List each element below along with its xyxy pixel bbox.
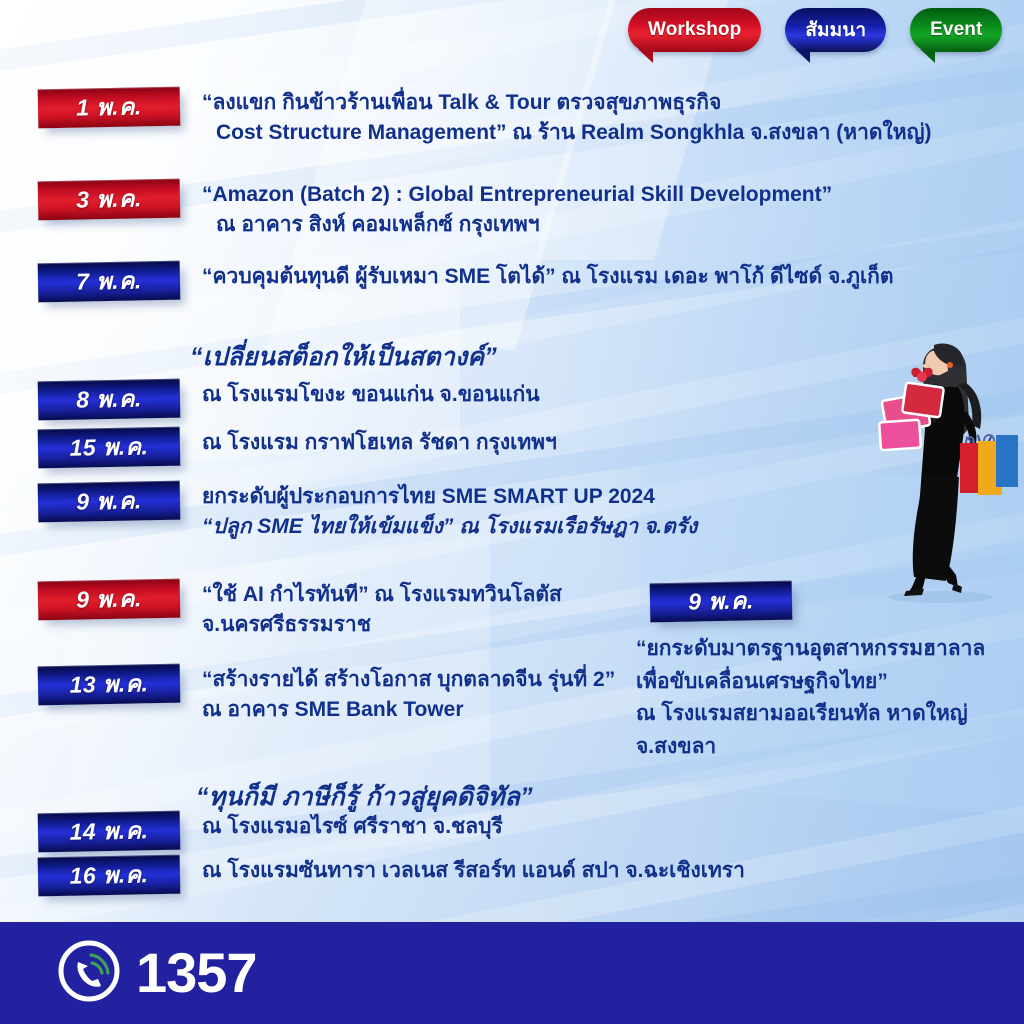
event-text-2: “Amazon (Batch 2) : Global Entrepreneuri… bbox=[202, 180, 832, 240]
event-date-chip-8[interactable]: 13 พ.ค. bbox=[38, 664, 181, 706]
event-list: 1 พ.ค. “ลงแขก กินข้าวร้านเพื่อน Talk & T… bbox=[0, 0, 1024, 1024]
legend-badge-workshop[interactable]: Workshop bbox=[628, 8, 761, 52]
event-line: ณ โรงแรม กราฟโฮเทล รัชดา กรุงเทพฯ bbox=[202, 428, 557, 458]
phone-number: 1357 bbox=[136, 945, 257, 1001]
footer-bar: 1357 bbox=[0, 922, 1024, 1024]
side-event-line: “ยกระดับมาตรฐานอุตสาหกรรมฮาลาล bbox=[636, 633, 1016, 666]
group-heading-tax-digital: “ทุนก็มี ภาษีก็รู้ ก้าวสู่ยุคดิจิทัล” bbox=[196, 777, 533, 817]
legend-badge-event[interactable]: Event bbox=[910, 8, 1002, 52]
event-row-9: 14 พ.ค. ณ โรงแรมอไรซ์ ศรีราชา จ.ชลบุรี bbox=[38, 812, 503, 851]
side-event-line: ณ โรงแรมสยามออเรียนทัล หาดใหญ่ bbox=[636, 698, 1016, 731]
event-date-3: 7 พ.ค. bbox=[76, 263, 142, 300]
event-text-8: “สร้างรายได้ สร้างโอกาส บุกตลาดจีน รุ่นท… bbox=[202, 665, 615, 725]
event-text-5: ณ โรงแรม กราฟโฮเทล รัชดา กรุงเทพฯ bbox=[202, 428, 557, 458]
event-line: จ.นครศรีธรรมราช bbox=[202, 610, 562, 640]
group-heading-stock-to-cash: “เปลี่ยนสต็อกให้เป็นสตางค์” bbox=[190, 337, 497, 377]
side-event-date: 9 พ.ค. bbox=[688, 583, 754, 620]
event-text-4: ณ โรงแรมโขงะ ขอนแก่น จ.ขอนแก่น bbox=[202, 380, 540, 410]
event-date-chip-6[interactable]: 9 พ.ค. bbox=[38, 481, 181, 523]
event-date-chip-4[interactable]: 8 พ.ค. bbox=[38, 379, 181, 421]
side-event-text: “ยกระดับมาตรฐานอุตสาหกรรมฮาลาล เพื่อขับเ… bbox=[636, 633, 1016, 763]
event-date-chip-2[interactable]: 3 พ.ค. bbox=[38, 179, 181, 221]
event-text-9: ณ โรงแรมอไรซ์ ศรีราชา จ.ชลบุรี bbox=[202, 812, 503, 842]
event-date-8: 13 พ.ค. bbox=[69, 666, 149, 704]
event-date-2: 3 พ.ค. bbox=[76, 181, 142, 218]
event-line: “ควบคุมต้นทุนดี ผู้รับเหมา SME โตได้” ณ … bbox=[202, 262, 893, 292]
event-line: ณ โรงแรมอไรซ์ ศรีราชา จ.ชลบุรี bbox=[202, 812, 503, 842]
event-row-3: 7 พ.ค. “ควบคุมต้นทุนดี ผู้รับเหมา SME โต… bbox=[38, 262, 893, 301]
event-date-4: 8 พ.ค. bbox=[76, 381, 142, 418]
event-line: ณ โรงแรมโขงะ ขอนแก่น จ.ขอนแก่น bbox=[202, 380, 540, 410]
event-line: ณ โรงแรมซันทารา เวลเนส รีสอร์ท แอนด์ สปา… bbox=[202, 856, 745, 886]
event-line: “Amazon (Batch 2) : Global Entrepreneuri… bbox=[202, 180, 832, 210]
legend-label-seminar: สัมมนา bbox=[805, 15, 866, 45]
event-row-1: 1 พ.ค. “ลงแขก กินข้าวร้านเพื่อน Talk & T… bbox=[38, 88, 931, 148]
event-row-4: 8 พ.ค. ณ โรงแรมโขงะ ขอนแก่น จ.ขอนแก่น bbox=[38, 380, 540, 419]
event-line: “ลงแขก กินข้าวร้านเพื่อน Talk & Tour ตรว… bbox=[202, 88, 931, 118]
event-row-6: 9 พ.ค. ยกระดับผู้ประกอบการไทย SME SMART … bbox=[38, 482, 697, 542]
event-line: ยกระดับผู้ประกอบการไทย SME SMART UP 2024 bbox=[202, 482, 697, 512]
event-line: “ใช้ AI กำไรทันที” ณ โรงแรมทวินโลตัส bbox=[202, 580, 562, 610]
event-date-chip-10[interactable]: 16 พ.ค. bbox=[38, 855, 181, 897]
event-date-9: 14 พ.ค. bbox=[69, 813, 149, 851]
event-line: ณ อาคาร สิงห์ คอมเพล็กซ์ กรุงเทพฯ bbox=[202, 210, 832, 240]
legend: Workshop สัมมนา Event bbox=[628, 8, 1002, 52]
side-event-line: เพื่อขับเคลื่อนเศรษฐกิจไทย” bbox=[636, 666, 1016, 699]
event-text-1: “ลงแขก กินข้าวร้านเพื่อน Talk & Tour ตรว… bbox=[202, 88, 931, 148]
legend-badge-seminar[interactable]: สัมมนา bbox=[785, 8, 886, 52]
event-row-5: 15 พ.ค. ณ โรงแรม กราฟโฮเทล รัชดา กรุงเทพ… bbox=[38, 428, 557, 467]
legend-label-workshop: Workshop bbox=[648, 19, 741, 41]
event-line: “ปลูก SME ไทยให้เข้มแข็ง” ณ โรงแรมเรือรั… bbox=[202, 512, 697, 542]
event-calendar-poster: Workshop สัมมนา Event bbox=[0, 0, 1024, 1024]
event-date-chip-1[interactable]: 1 พ.ค. bbox=[38, 87, 181, 129]
event-date-chip-7[interactable]: 9 พ.ค. bbox=[38, 579, 181, 621]
event-date-chip-9[interactable]: 14 พ.ค. bbox=[38, 811, 181, 853]
contact-phone[interactable]: 1357 bbox=[56, 938, 257, 1009]
event-line: ณ อาคาร SME Bank Tower bbox=[202, 695, 615, 725]
event-date-7: 9 พ.ค. bbox=[76, 581, 142, 618]
event-row-8: 13 พ.ค. “สร้างรายได้ สร้างโอกาส บุกตลาดจ… bbox=[38, 665, 615, 725]
event-line: “สร้างรายได้ สร้างโอกาส บุกตลาดจีน รุ่นท… bbox=[202, 665, 615, 695]
event-date-6: 9 พ.ค. bbox=[76, 483, 142, 520]
event-text-7: “ใช้ AI กำไรทันที” ณ โรงแรมทวินโลตัส จ.น… bbox=[202, 580, 562, 640]
event-date-10: 16 พ.ค. bbox=[69, 857, 149, 895]
event-line: Cost Structure Management” ณ ร้าน Realm … bbox=[202, 118, 931, 148]
event-date-chip-3[interactable]: 7 พ.ค. bbox=[38, 261, 181, 303]
side-event-block: 9 พ.ค. “ยกระดับมาตรฐานอุตสาหกรรมฮาลาล เพ… bbox=[636, 582, 1016, 763]
event-date-5: 15 พ.ค. bbox=[69, 429, 149, 467]
legend-label-event: Event bbox=[930, 19, 982, 41]
phone-call-icon bbox=[56, 938, 122, 1009]
event-row-7: 9 พ.ค. “ใช้ AI กำไรทันที” ณ โรงแรมทวินโล… bbox=[38, 580, 562, 640]
event-date-1: 1 พ.ค. bbox=[76, 89, 142, 126]
side-event-line: จ.สงขลา bbox=[636, 731, 1016, 764]
event-text-3: “ควบคุมต้นทุนดี ผู้รับเหมา SME โตได้” ณ … bbox=[202, 262, 893, 292]
event-date-chip-5[interactable]: 15 พ.ค. bbox=[38, 427, 181, 469]
event-row-10: 16 พ.ค. ณ โรงแรมซันทารา เวลเนส รีสอร์ท แ… bbox=[38, 856, 745, 895]
event-text-10: ณ โรงแรมซันทารา เวลเนส รีสอร์ท แอนด์ สปา… bbox=[202, 856, 745, 886]
event-text-6: ยกระดับผู้ประกอบการไทย SME SMART UP 2024… bbox=[202, 482, 697, 542]
event-row-2: 3 พ.ค. “Amazon (Batch 2) : Global Entrep… bbox=[38, 180, 832, 240]
side-event-date-chip[interactable]: 9 พ.ค. bbox=[650, 581, 793, 623]
